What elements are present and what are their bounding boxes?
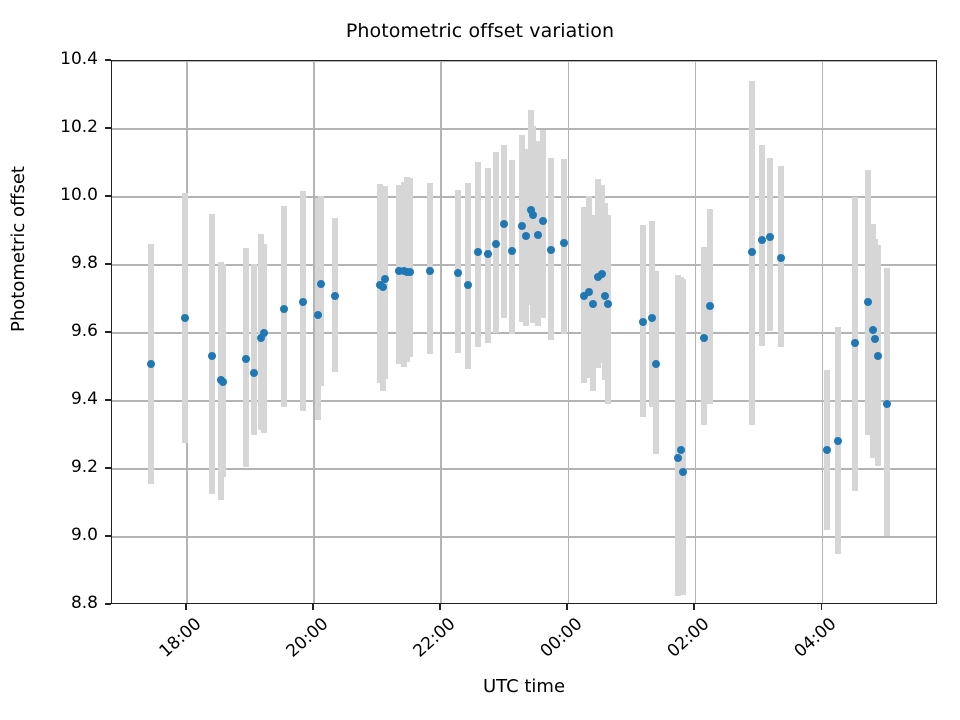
plot-area bbox=[111, 60, 937, 604]
y-tick-label: 9.8 bbox=[71, 253, 98, 273]
data-point bbox=[598, 270, 606, 278]
data-point bbox=[679, 468, 687, 476]
data-point bbox=[484, 250, 492, 258]
data-point bbox=[317, 280, 325, 288]
x-tick-mark bbox=[693, 604, 695, 610]
error-bar bbox=[767, 158, 773, 331]
error-bar bbox=[759, 145, 765, 346]
x-tick-mark bbox=[439, 604, 441, 610]
error-bar bbox=[501, 145, 507, 317]
error-bar bbox=[605, 215, 611, 404]
y-tick-label: 9.0 bbox=[71, 525, 98, 545]
data-point bbox=[700, 334, 708, 342]
error-bar bbox=[561, 159, 567, 334]
data-point bbox=[331, 292, 339, 300]
data-point bbox=[406, 268, 414, 276]
y-tick-label: 8.8 bbox=[71, 593, 98, 613]
error-bar bbox=[220, 264, 226, 477]
gridline-horizontal bbox=[112, 332, 936, 333]
data-point bbox=[758, 236, 766, 244]
data-point bbox=[874, 352, 882, 360]
data-point bbox=[508, 247, 516, 255]
y-tick-label: 10.4 bbox=[60, 49, 98, 69]
x-tick-mark bbox=[566, 604, 568, 610]
data-point bbox=[381, 275, 389, 283]
error-bar bbox=[465, 183, 471, 369]
chart-figure: Photometric offset variation Photometric… bbox=[0, 0, 960, 720]
y-tick-label: 9.6 bbox=[71, 321, 98, 341]
data-point bbox=[534, 231, 542, 239]
data-point bbox=[883, 400, 891, 408]
x-axis-label: UTC time bbox=[111, 676, 937, 697]
gridline-horizontal bbox=[112, 400, 936, 401]
y-tick-label: 10.0 bbox=[60, 185, 98, 205]
gridline-horizontal bbox=[112, 468, 936, 469]
data-point bbox=[474, 248, 482, 256]
x-tick-mark bbox=[821, 604, 823, 610]
data-point bbox=[585, 288, 593, 296]
gridline-vertical bbox=[822, 61, 823, 603]
y-tick-label: 9.2 bbox=[71, 457, 98, 477]
data-point bbox=[777, 254, 785, 262]
gridline-vertical bbox=[440, 61, 441, 603]
data-point bbox=[766, 233, 774, 241]
x-tick-label: 20:00 bbox=[280, 614, 332, 664]
data-point bbox=[518, 222, 526, 230]
x-tick-label: 02:00 bbox=[662, 614, 714, 664]
data-point bbox=[242, 355, 250, 363]
data-point bbox=[147, 360, 155, 368]
x-tick-label: 00:00 bbox=[535, 614, 587, 664]
error-bar bbox=[680, 279, 686, 595]
x-tick-label: 18:00 bbox=[153, 614, 205, 664]
data-point bbox=[601, 292, 609, 300]
gridline-horizontal bbox=[112, 60, 936, 61]
gridline-horizontal bbox=[112, 536, 936, 537]
y-tick-label: 9.4 bbox=[71, 389, 98, 409]
x-tick-mark bbox=[185, 604, 187, 610]
data-point bbox=[280, 305, 288, 313]
error-bar bbox=[251, 264, 257, 435]
gridline-vertical bbox=[695, 61, 696, 603]
data-point bbox=[379, 283, 387, 291]
data-point bbox=[299, 298, 307, 306]
data-point bbox=[871, 335, 879, 343]
y-tick-label: 10.2 bbox=[60, 117, 98, 137]
data-point bbox=[604, 300, 612, 308]
data-point bbox=[648, 314, 656, 322]
chart-title: Photometric offset variation bbox=[0, 20, 960, 42]
data-point bbox=[652, 360, 660, 368]
gridline-vertical bbox=[568, 61, 569, 603]
data-point bbox=[539, 217, 547, 225]
data-point bbox=[560, 239, 568, 247]
x-tick-label: 22:00 bbox=[407, 614, 459, 664]
x-tick-mark bbox=[312, 604, 314, 610]
data-point bbox=[706, 302, 714, 310]
y-axis-label: Photometric offset bbox=[8, 166, 29, 332]
gridline-horizontal bbox=[112, 128, 936, 129]
error-bar bbox=[318, 196, 324, 386]
x-tick-label: 04:00 bbox=[789, 614, 841, 664]
data-point bbox=[834, 437, 842, 445]
